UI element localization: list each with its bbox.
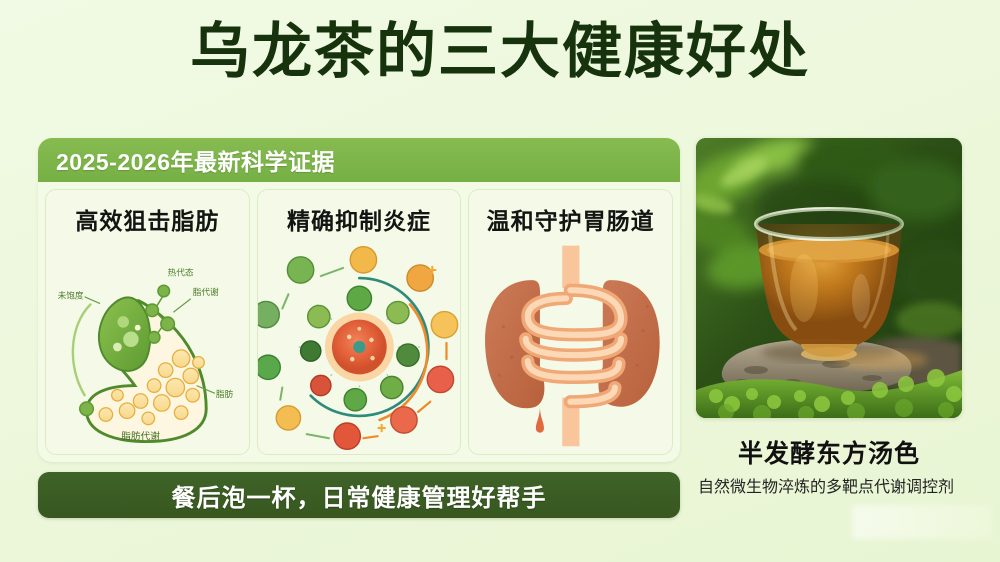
tea-cup-photo [696,138,962,418]
evidence-banner: 2025-2026年最新科学证据 [38,138,680,182]
benefit-card-fat[interactable]: 高效狙击脂肪 [45,189,250,455]
evidence-banner-label: 2025-2026年最新科学证据 [56,143,335,177]
svg-text:热代态: 热代态 [168,267,194,279]
page-title: 乌龙茶的三大健康好处 [0,22,1000,82]
tea-color-subtitle: 自然微生物淬炼的多靶点代谢调控剂 [696,477,962,500]
benefit-card-title: 温和守护胃肠道 [487,202,655,236]
watermark-blur [852,505,992,539]
svg-text:未饱度: 未饱度 [58,290,84,302]
inflammation-molecular-icon [258,240,461,454]
benefit-card-title: 精确抑制炎症 [287,202,431,236]
benefit-cards-row: 高效狙击脂肪 [38,182,680,462]
svg-text:脂代谢: 脂代谢 [193,286,219,298]
benefit-card-gut[interactable]: 温和守护胃肠道 [468,189,673,455]
poster-canvas: 乌龙茶的三大健康好处 2025-2026年最新科学证据 高效狙击脂肪 [0,0,1000,562]
benefit-card-inflammation[interactable]: 精确抑制炎症 [257,189,462,455]
benefits-panel: 2025-2026年最新科学证据 高效狙击脂肪 [38,138,680,462]
stomach-fat-metabolism-icon: 热代态 脂代谢 未饱度 脂肪 脂肪代谢 [46,240,249,454]
footer-banner: 餐后泡一杯，日常健康管理好帮手 [38,472,680,518]
svg-text:脂肪: 脂肪 [216,388,234,400]
tea-column: 半发酵东方汤色 自然微生物淬炼的多靶点代谢调控剂 [696,138,962,500]
svg-text:脂肪代谢: 脂肪代谢 [121,431,160,443]
digestive-tract-icon [469,240,672,454]
tea-color-title: 半发酵东方汤色 [696,434,962,470]
benefit-card-title: 高效狙击脂肪 [75,202,219,236]
footer-banner-label: 餐后泡一杯，日常健康管理好帮手 [172,478,547,513]
